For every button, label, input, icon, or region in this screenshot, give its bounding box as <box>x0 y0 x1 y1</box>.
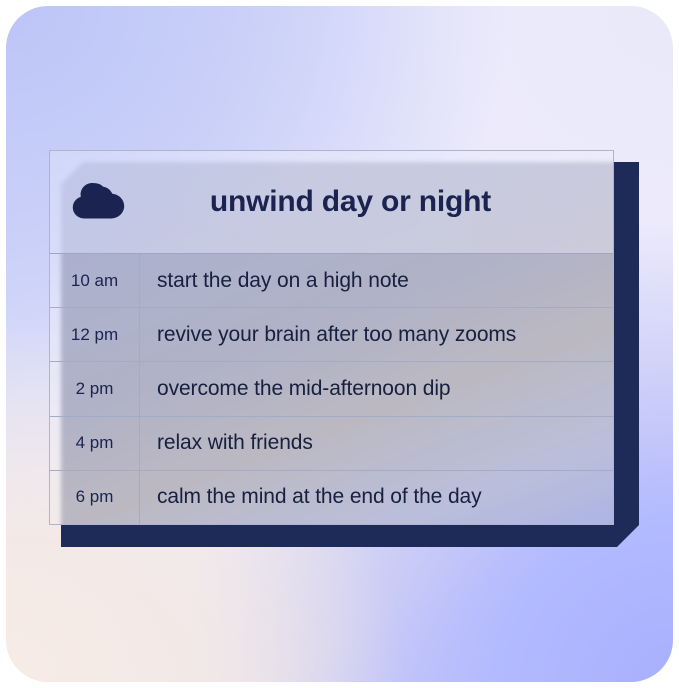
row-time: 10 am <box>50 254 140 307</box>
row-time: 2 pm <box>50 362 140 415</box>
row-time: 6 pm <box>50 471 140 524</box>
row-activity: start the day on a high note <box>140 269 613 293</box>
cloud-icon <box>50 180 140 224</box>
card-title: unwind day or night <box>140 185 613 219</box>
schedule-row[interactable]: 10 am start the day on a high note <box>50 254 613 308</box>
row-time: 12 pm <box>50 308 140 361</box>
row-activity: revive your brain after too many zooms <box>140 323 613 347</box>
schedule-row[interactable]: 6 pm calm the mind at the end of the day <box>50 471 613 524</box>
row-activity: calm the mind at the end of the day <box>140 485 613 509</box>
schedule-row[interactable]: 12 pm revive your brain after too many z… <box>50 308 613 362</box>
gradient-background: unwind day or night 10 am start the day … <box>6 6 673 682</box>
schedule-card: unwind day or night 10 am start the day … <box>49 150 614 525</box>
row-activity: overcome the mid-afternoon dip <box>140 377 613 401</box>
schedule-row[interactable]: 2 pm overcome the mid-afternoon dip <box>50 362 613 416</box>
schedule-rows: 10 am start the day on a high note 12 pm… <box>50 254 613 524</box>
row-activity: relax with friends <box>140 431 613 455</box>
schedule-row[interactable]: 4 pm relax with friends <box>50 417 613 471</box>
card-header: unwind day or night <box>50 151 613 254</box>
row-time: 4 pm <box>50 417 140 470</box>
